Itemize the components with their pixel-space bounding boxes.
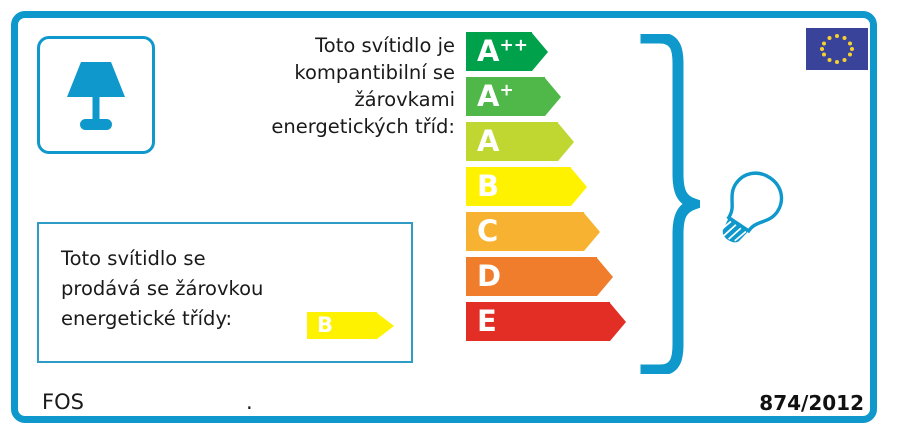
header-line-2: kompantibilní se	[185, 59, 455, 86]
header-line-1: Toto svítidlo je	[185, 32, 455, 59]
energy-class-arrow-tip	[558, 123, 574, 161]
footer-regulation: 874/2012	[759, 391, 864, 415]
energy-class-superscript: +	[499, 80, 513, 100]
energy-class-label: D	[477, 262, 501, 291]
energy-class-arrow: B	[466, 167, 626, 206]
header-text: Toto svítidlo je kompantibilní se žárovk…	[185, 32, 455, 140]
energy-class-arrow: A+	[466, 77, 626, 116]
energy-class-arrow-body: A+	[466, 77, 545, 116]
energy-class-label: A+	[477, 82, 514, 111]
light-bulb-icon	[705, 160, 797, 252]
energy-class-arrow-tip	[597, 258, 613, 296]
sold-class-arrow-body: B	[307, 312, 377, 339]
header-line-3: žárovkami	[185, 86, 455, 113]
sold-with-bulb-box: Toto svítidlo se prodává se žárovkou ene…	[37, 222, 413, 363]
energy-class-arrow-body: C	[466, 212, 584, 251]
energy-class-label: A++	[477, 37, 528, 66]
energy-class-arrow-tip	[584, 213, 600, 251]
energy-class-arrow-tip	[610, 303, 626, 341]
energy-class-arrow-tip	[571, 168, 587, 206]
energy-class-label: E	[477, 307, 497, 336]
energy-class-arrow-body: D	[466, 257, 597, 296]
energy-class-arrow-tip	[532, 33, 548, 71]
eu-flag-icon	[806, 28, 868, 70]
energy-class-label: A	[477, 127, 499, 156]
footer-separator: .	[246, 390, 253, 414]
energy-class-label: C	[477, 217, 498, 246]
lamp-pictogram-box	[37, 36, 155, 154]
energy-class-arrow-body: A	[466, 122, 558, 161]
sold-class-arrow-tip	[377, 313, 394, 339]
energy-class-arrow-body: E	[466, 302, 610, 341]
energy-class-arrow-tip	[545, 78, 561, 116]
energy-label: Toto svítidlo je kompantibilní se žárovk…	[0, 0, 900, 446]
sold-box-text: Toto svítidlo se prodává se žárovkou ene…	[61, 244, 263, 334]
energy-class-arrow: D	[466, 257, 626, 296]
energy-class-scale: A++A+ABCDE	[466, 32, 626, 347]
curly-brace-icon	[640, 34, 700, 374]
footer-brand: FOS	[42, 390, 84, 414]
sold-class-label: B	[317, 315, 333, 336]
energy-class-arrow-body: A++	[466, 32, 532, 71]
energy-class-arrow: A	[466, 122, 626, 161]
energy-class-label: B	[477, 172, 499, 201]
header-line-4: energetických tříd:	[185, 113, 455, 140]
energy-class-arrow: A++	[466, 32, 626, 71]
energy-class-arrow-body: B	[466, 167, 571, 206]
sold-class-arrow: B	[307, 312, 394, 339]
energy-class-superscript: ++	[499, 35, 528, 55]
energy-class-arrow: E	[466, 302, 626, 341]
energy-class-arrow: C	[466, 212, 626, 251]
table-lamp-icon	[53, 52, 139, 138]
